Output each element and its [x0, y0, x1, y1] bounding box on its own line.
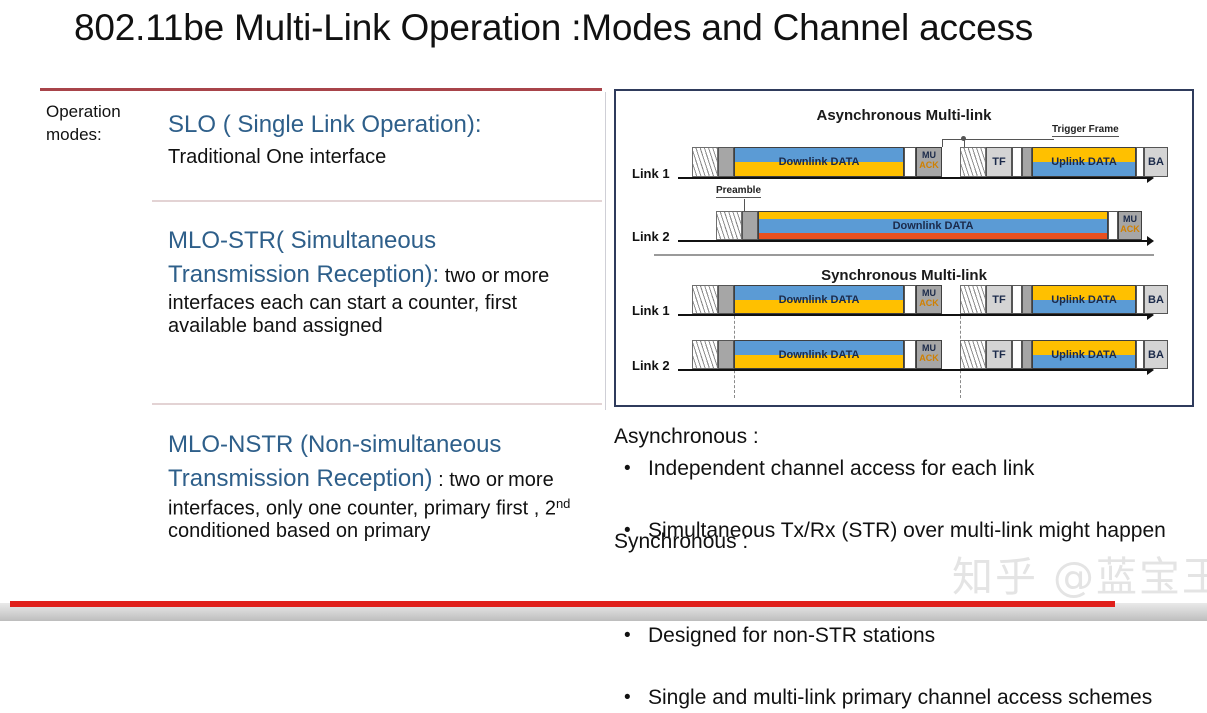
- sync-link2-backoff-hatch: [692, 340, 718, 369]
- trigger-frame-callout-label: Trigger Frame: [1052, 124, 1119, 137]
- async-link1-mu-label: MU: [917, 150, 941, 160]
- sync-link2-uplink-label: Uplink DATA: [1033, 349, 1135, 361]
- sync-link2-sifs-gap: [904, 340, 916, 369]
- async-link1-tf-block: TF: [986, 147, 1012, 177]
- async-bullet-1: Independent channel access for each link: [614, 453, 1207, 484]
- mode-mlo-str-inline: two or: [439, 265, 499, 287]
- title-underline-rule: [40, 88, 602, 91]
- async-link2-label: Link 2: [632, 229, 670, 244]
- async-link1-downlink-label: Downlink DATA: [735, 156, 903, 168]
- mode-mlo-nstr-body-sup: nd: [556, 496, 570, 511]
- sync-link1-backoff-hatch-2: [960, 285, 986, 314]
- mode-slo-body: Traditional One interface: [168, 142, 578, 172]
- sync-link1-ack-label: ACK: [917, 298, 941, 308]
- async-link2-mu-label: MU: [1119, 214, 1141, 224]
- sync-bullets-heading: Synchronous :: [614, 527, 748, 557]
- mode-mlo-nstr-body-post: conditioned based on primary: [168, 520, 430, 542]
- async-diagram-title: Asynchronous Multi-link: [616, 107, 1192, 124]
- sync-link1-ba-label: BA: [1145, 294, 1167, 306]
- sync-link2-ack-label: ACK: [917, 353, 941, 363]
- async-link2-backoff-hatch: [716, 211, 742, 240]
- mode-mlo-str-text: MLO-STR( Simultaneous Transmission Recep…: [168, 224, 578, 338]
- mode-block-mlo-nstr: MLO-NSTR (Non-simultaneous Transmission …: [168, 428, 578, 543]
- zhihu-watermark: 知乎 @蓝宝王: [952, 543, 1207, 603]
- sync-link2-gap-2: [1012, 340, 1022, 369]
- sync-link1-gap-3: [1136, 285, 1144, 314]
- async-link1-sifs-gap: [904, 147, 916, 177]
- column-divider: [605, 92, 606, 410]
- async-link2-downlink-label: Downlink DATA: [759, 220, 1107, 232]
- sync-bullet-2: Single and multi-link primary channel ac…: [614, 682, 1207, 713]
- async-link2-axis: [678, 240, 1148, 242]
- sync-link2-gap-3: [1136, 340, 1144, 369]
- async-link2-mu-ack: MU ACK: [1118, 211, 1142, 240]
- async-link1-tf-label: TF: [987, 156, 1011, 168]
- async-link1-backoff-hatch-2: [960, 147, 986, 177]
- sync-link1-preamble-block: [718, 285, 734, 314]
- sync-link2-tf-block: TF: [986, 340, 1012, 369]
- async-link1-preamble-block: [718, 147, 734, 177]
- sync-link1-downlink-label: Downlink DATA: [735, 294, 903, 306]
- mode-mlo-str-heading: MLO-STR( Simultaneous Transmission Recep…: [168, 227, 439, 288]
- sync-bullet-1: Designed for non-STR stations: [614, 620, 1207, 651]
- sync-link2-label: Link 2: [632, 358, 670, 373]
- sync-link2-uplink-data: Uplink DATA: [1032, 340, 1136, 369]
- sync-link1-gap-2: [1012, 285, 1022, 314]
- sync-link1-tf-block: TF: [986, 285, 1012, 314]
- mode-block-slo: SLO ( Single Link Operation): Traditiona…: [168, 108, 578, 172]
- sync-link2-mu-label: MU: [917, 343, 941, 353]
- async-link1-ba-block: BA: [1144, 147, 1168, 177]
- sync-link1-axis: [678, 314, 1148, 316]
- sync-link1-sifs-gap: [904, 285, 916, 314]
- sync-link2-ba-block: BA: [1144, 340, 1168, 369]
- async-link1-gap-2: [1012, 147, 1022, 177]
- sync-diagram-title: Synchronous Multi-link: [616, 267, 1192, 284]
- trigger-frame-anchor-dot: [961, 136, 966, 141]
- sync-link2-ba-label: BA: [1145, 349, 1167, 361]
- sync-link1-ba-block: BA: [1144, 285, 1168, 314]
- sync-link2-backoff-hatch-2: [960, 340, 986, 369]
- slide-canvas: 802.11be Multi-Link Operation :Modes and…: [0, 0, 1207, 621]
- sync-link1-preamble-2: [1022, 285, 1032, 314]
- operation-modes-label: Operation modes:: [46, 100, 146, 146]
- sync-link1-mu-ack: MU ACK: [916, 285, 942, 314]
- async-link1-gap-3: [1136, 147, 1144, 177]
- sync-link2-downlink-label: Downlink DATA: [735, 349, 903, 361]
- async-link1-uplink-label: Uplink DATA: [1033, 156, 1135, 168]
- sync-link2-mu-ack: MU ACK: [916, 340, 942, 369]
- page-title: 802.11be Multi-Link Operation :Modes and…: [74, 5, 1134, 51]
- async-link2-ack-label: ACK: [1119, 224, 1141, 234]
- mode-separator-2: [152, 403, 602, 405]
- preamble-callout-label: Preamble: [716, 185, 761, 198]
- mode-separator-1: [152, 200, 602, 202]
- async-link1-ba-label: BA: [1145, 156, 1167, 168]
- async-link1-uplink-data: Uplink DATA: [1032, 147, 1136, 177]
- mode-block-mlo-str: MLO-STR( Simultaneous Transmission Recep…: [168, 224, 578, 338]
- async-link1-ack-label: ACK: [917, 160, 941, 170]
- async-link1-downlink-data: Downlink DATA: [734, 147, 904, 177]
- sync-link2-downlink-data: Downlink DATA: [734, 340, 904, 369]
- sync-link1-uplink-label: Uplink DATA: [1033, 294, 1135, 306]
- mode-slo-heading: SLO ( Single Link Operation):: [168, 108, 578, 142]
- trigger-frame-bracket-left: [942, 139, 943, 147]
- mode-mlo-nstr-text: MLO-NSTR (Non-simultaneous Transmission …: [168, 428, 578, 543]
- async-link1-preamble-2: [1022, 147, 1032, 177]
- sync-link2-preamble-block: [718, 340, 734, 369]
- sync-link1-downlink-data: Downlink DATA: [734, 285, 904, 314]
- sync-link1-tf-label: TF: [987, 294, 1011, 306]
- mode-mlo-nstr-inline: : two or: [433, 469, 504, 491]
- sync-link2-axis: [678, 369, 1148, 371]
- async-link1-axis: [678, 177, 1148, 179]
- sync-link1-backoff-hatch: [692, 285, 718, 314]
- sync-link2-tf-label: TF: [987, 349, 1011, 361]
- sync-link1-label: Link 1: [632, 303, 670, 318]
- async-link2-downlink-data: Downlink DATA: [758, 211, 1108, 240]
- trigger-frame-leader-line: [964, 139, 1054, 140]
- async-bullets-heading: Asynchronous :: [614, 422, 759, 452]
- footer-red-bar: [10, 601, 1115, 607]
- async-link1-label: Link 1: [632, 166, 670, 181]
- multilink-diagram-panel: Asynchronous Multi-link Trigger Frame Li…: [614, 89, 1194, 407]
- async-link2-sifs-gap: [1108, 211, 1118, 240]
- sync-link1-uplink-data: Uplink DATA: [1032, 285, 1136, 314]
- sync-link1-mu-label: MU: [917, 288, 941, 298]
- async-link1-mu-ack: MU ACK: [916, 147, 942, 177]
- sync-link2-preamble-2: [1022, 340, 1032, 369]
- diagram-section-divider: [654, 254, 1154, 256]
- async-link1-backoff-hatch: [692, 147, 718, 177]
- async-link2-preamble-block: [742, 211, 758, 240]
